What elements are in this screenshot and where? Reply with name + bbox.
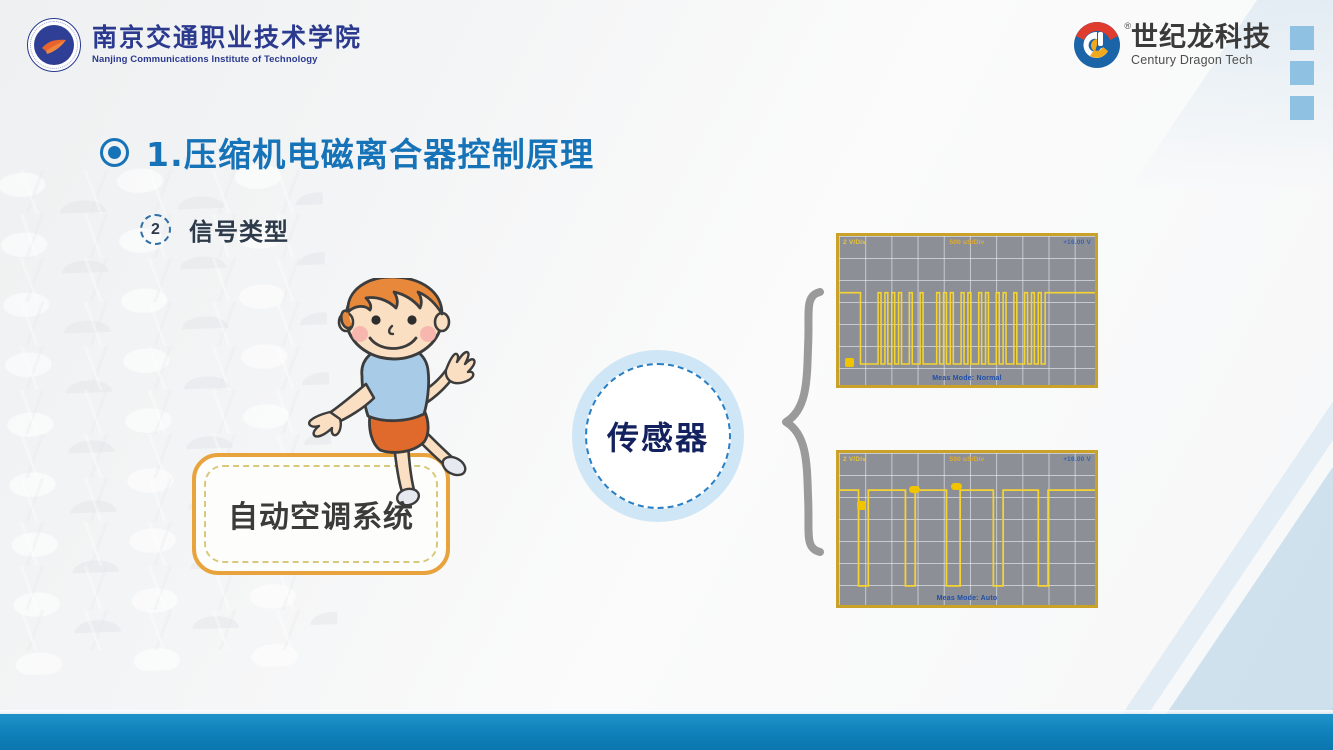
scope-cursor-2b — [909, 486, 920, 493]
square-accent-3 — [1290, 96, 1314, 120]
scope-voltage-readout-1: +16.00 V — [1063, 239, 1091, 246]
sponsor-name-en: Century Dragon Tech — [1131, 53, 1271, 67]
source-box-label: 自动空调系统 — [228, 492, 414, 536]
scope-volts-per-div-2: 2 V/Div — [843, 456, 866, 463]
footer-bar — [0, 714, 1333, 750]
sensor-node: 传感器 — [572, 350, 744, 522]
seal-bird-icon — [41, 37, 68, 55]
sponsor-logo: ® 世纪龙科技 Century Dragon Tech — [1072, 20, 1271, 70]
background-diagonal-thin — [1071, 230, 1333, 750]
century-dragon-swirl-icon: ® — [1072, 20, 1122, 70]
header-square-accents — [1290, 26, 1314, 120]
slide-canvas: 南京交通职业技术学院 Nanjing Communications Instit… — [0, 0, 1333, 750]
registered-mark: ® — [1124, 21, 1131, 31]
institution-names: 南京交通职业技术学院 Nanjing Communications Instit… — [92, 25, 362, 64]
square-accent-1 — [1290, 26, 1314, 50]
scope-trace-2 — [839, 453, 1095, 607]
section-number-badge: 2 — [140, 214, 171, 245]
scope-cursor-2c — [951, 483, 962, 490]
scope-voltage-readout-2: +16.00 V — [1063, 456, 1091, 463]
page-title: 1.压缩机电磁离合器控制原理 — [100, 128, 594, 176]
square-accent-2 — [1290, 61, 1314, 85]
page-title-text: 1.压缩机电磁离合器控制原理 — [146, 128, 594, 176]
scope-cursor-2a — [857, 501, 866, 510]
slide-header: 南京交通职业技术学院 Nanjing Communications Instit… — [0, 0, 1333, 92]
background-diagonal-wide — [1115, 230, 1333, 750]
institution-logo: 南京交通职业技术学院 Nanjing Communications Instit… — [27, 18, 362, 72]
section-subtitle-text: 信号类型 — [189, 212, 289, 247]
scope-meas-mode-2: Meas Mode: Auto — [937, 595, 998, 602]
oscilloscope-pwm-square: 2 V/Div 500 uS/Div +16.00 V Meas Mode: A… — [836, 450, 1098, 608]
scope-trace-1 — [839, 236, 1095, 387]
sponsor-name-cn: 世纪龙科技 — [1131, 23, 1271, 52]
cartoon-boy-icon — [296, 278, 482, 513]
institution-name-cn: 南京交通职业技术学院 — [92, 25, 362, 51]
scope-time-per-div-2: 500 uS/Div — [950, 456, 985, 463]
radio-bullet-icon — [100, 138, 129, 167]
scope-volts-per-div-1: 2 V/Div — [843, 239, 866, 246]
scope-cursor-1 — [845, 358, 854, 367]
curly-brace-icon — [780, 288, 826, 556]
sponsor-names: 世纪龙科技 Century Dragon Tech — [1131, 23, 1271, 66]
background-diagonal-edge — [1277, 230, 1333, 750]
institution-name-en: Nanjing Communications Institute of Tech… — [92, 54, 362, 65]
scope-time-per-div-1: 500 uS/Div — [950, 239, 985, 246]
sensor-node-label: 传感器 — [607, 413, 709, 459]
scope-meas-mode-1: Meas Mode: Normal — [932, 375, 1002, 382]
institution-seal-icon — [27, 18, 81, 72]
section-subtitle: 2 信号类型 — [140, 212, 289, 247]
oscilloscope-digital-serial: 2 V/Div 500 uS/Div +16.00 V Meas Mode: N… — [836, 233, 1098, 388]
